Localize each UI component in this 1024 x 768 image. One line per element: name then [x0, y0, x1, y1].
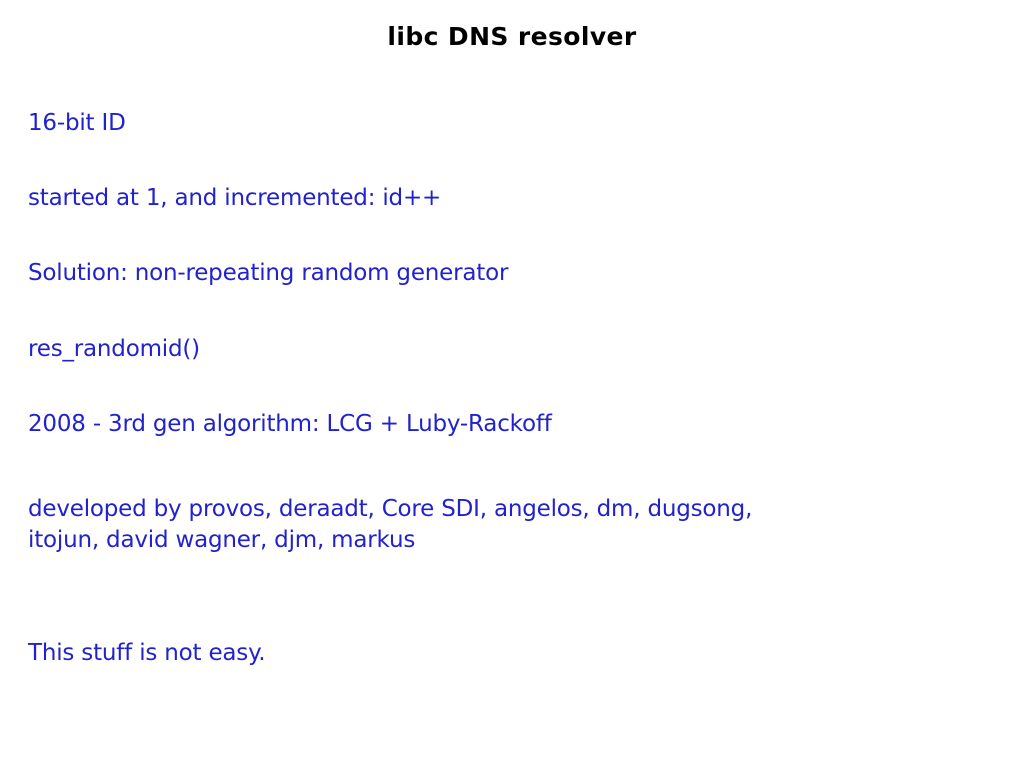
bullet-developed-by: developed by provos, deraadt, Core SDI, … [28, 494, 752, 556]
bullet-res-randomid: res_randomid() [28, 334, 200, 365]
slide-title: libc DNS resolver [0, 22, 1024, 51]
bullet-16-bit-id: 16-bit ID [28, 108, 126, 139]
bullet-solution: Solution: non-repeating random generator [28, 258, 508, 289]
bullet-started-at-1: started at 1, and incremented: id++ [28, 183, 441, 214]
presentation-slide: libc DNS resolver 16-bit ID started at 1… [0, 0, 1024, 768]
bullet-this-stuff-is-not-easy: This stuff is not easy. [28, 638, 265, 669]
bullet-2008-3rd-gen: 2008 - 3rd gen algorithm: LCG + Luby-Rac… [28, 409, 552, 440]
